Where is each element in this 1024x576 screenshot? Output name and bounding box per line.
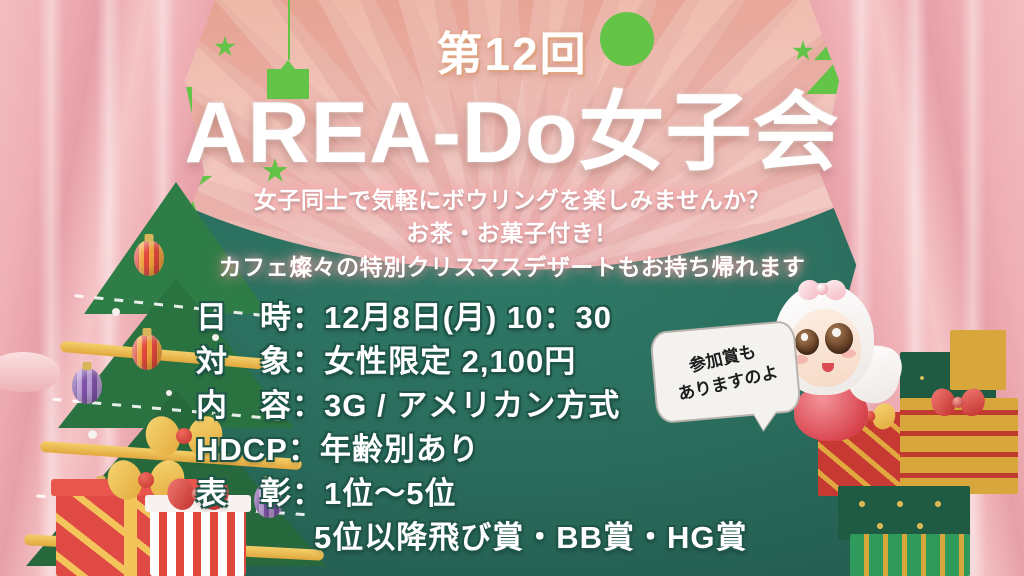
detail-row-5: 表 彰：1位〜5位 bbox=[196, 472, 748, 516]
detail-value: 12月8日(月) 10：30 bbox=[324, 300, 612, 335]
detail-row-6: 5位以降飛び賞・BB賞・HG賞 bbox=[196, 516, 748, 560]
detail-value: 5位以降飛び賞・BB賞・HG賞 bbox=[314, 520, 748, 555]
detail-label: HDCP： bbox=[196, 432, 320, 467]
detail-row-1: 日 時：12月8日(月) 10：30 bbox=[196, 296, 748, 340]
page-title: AREA-Do女子会 bbox=[0, 62, 1024, 187]
detail-row-2: 対 象：女性限定 2,100円 bbox=[196, 340, 748, 384]
detail-label: 表 彰： bbox=[196, 476, 324, 511]
event-details-block: 日 時：12月8日(月) 10：30対 象：女性限定 2,100円内 容：3G … bbox=[196, 296, 748, 560]
subtitle-line-3: カフェ燦々の特別クリスマスデザートもお持ち帰れます bbox=[0, 251, 1024, 284]
detail-row-3: 内 容：3G / アメリカン方式 bbox=[196, 384, 748, 428]
poster-canvas: 参加賞も ありますのよ 第12回 AREA-Do女子会 女子同士で気軽にボウリン… bbox=[0, 0, 1024, 576]
subtitle-line-1: 女子同士で気軽にボウリングを楽しみませんか？ bbox=[0, 184, 1024, 217]
detail-value: 女性限定 2,100円 bbox=[324, 344, 576, 379]
mascot-eye-left bbox=[795, 329, 819, 355]
ornament-icon bbox=[72, 368, 102, 404]
detail-row-4: HDCP：年齢別あり bbox=[196, 428, 748, 472]
subtitle-block: 女子同士で気軽にボウリングを楽しみませんか？お茶・お菓子付き！カフェ燦々の特別ク… bbox=[0, 184, 1024, 284]
subtitle-line-2: お茶・お菓子付き！ bbox=[0, 217, 1024, 250]
ornament-icon bbox=[132, 334, 162, 370]
detail-value: 3G / アメリカン方式 bbox=[324, 388, 620, 423]
detail-label: 日 時： bbox=[196, 300, 324, 335]
detail-label: 対 象： bbox=[196, 344, 324, 379]
gift-box-icon bbox=[838, 486, 970, 540]
mascot-eye-right bbox=[825, 323, 853, 354]
detail-value: 1位〜5位 bbox=[324, 476, 456, 511]
detail-value: 年齢別あり bbox=[320, 432, 480, 467]
gift-box-icon bbox=[850, 534, 970, 576]
gift-box-icon bbox=[950, 330, 1006, 390]
detail-label: 内 容： bbox=[196, 388, 324, 423]
ribbon-bow-icon bbox=[931, 387, 984, 419]
